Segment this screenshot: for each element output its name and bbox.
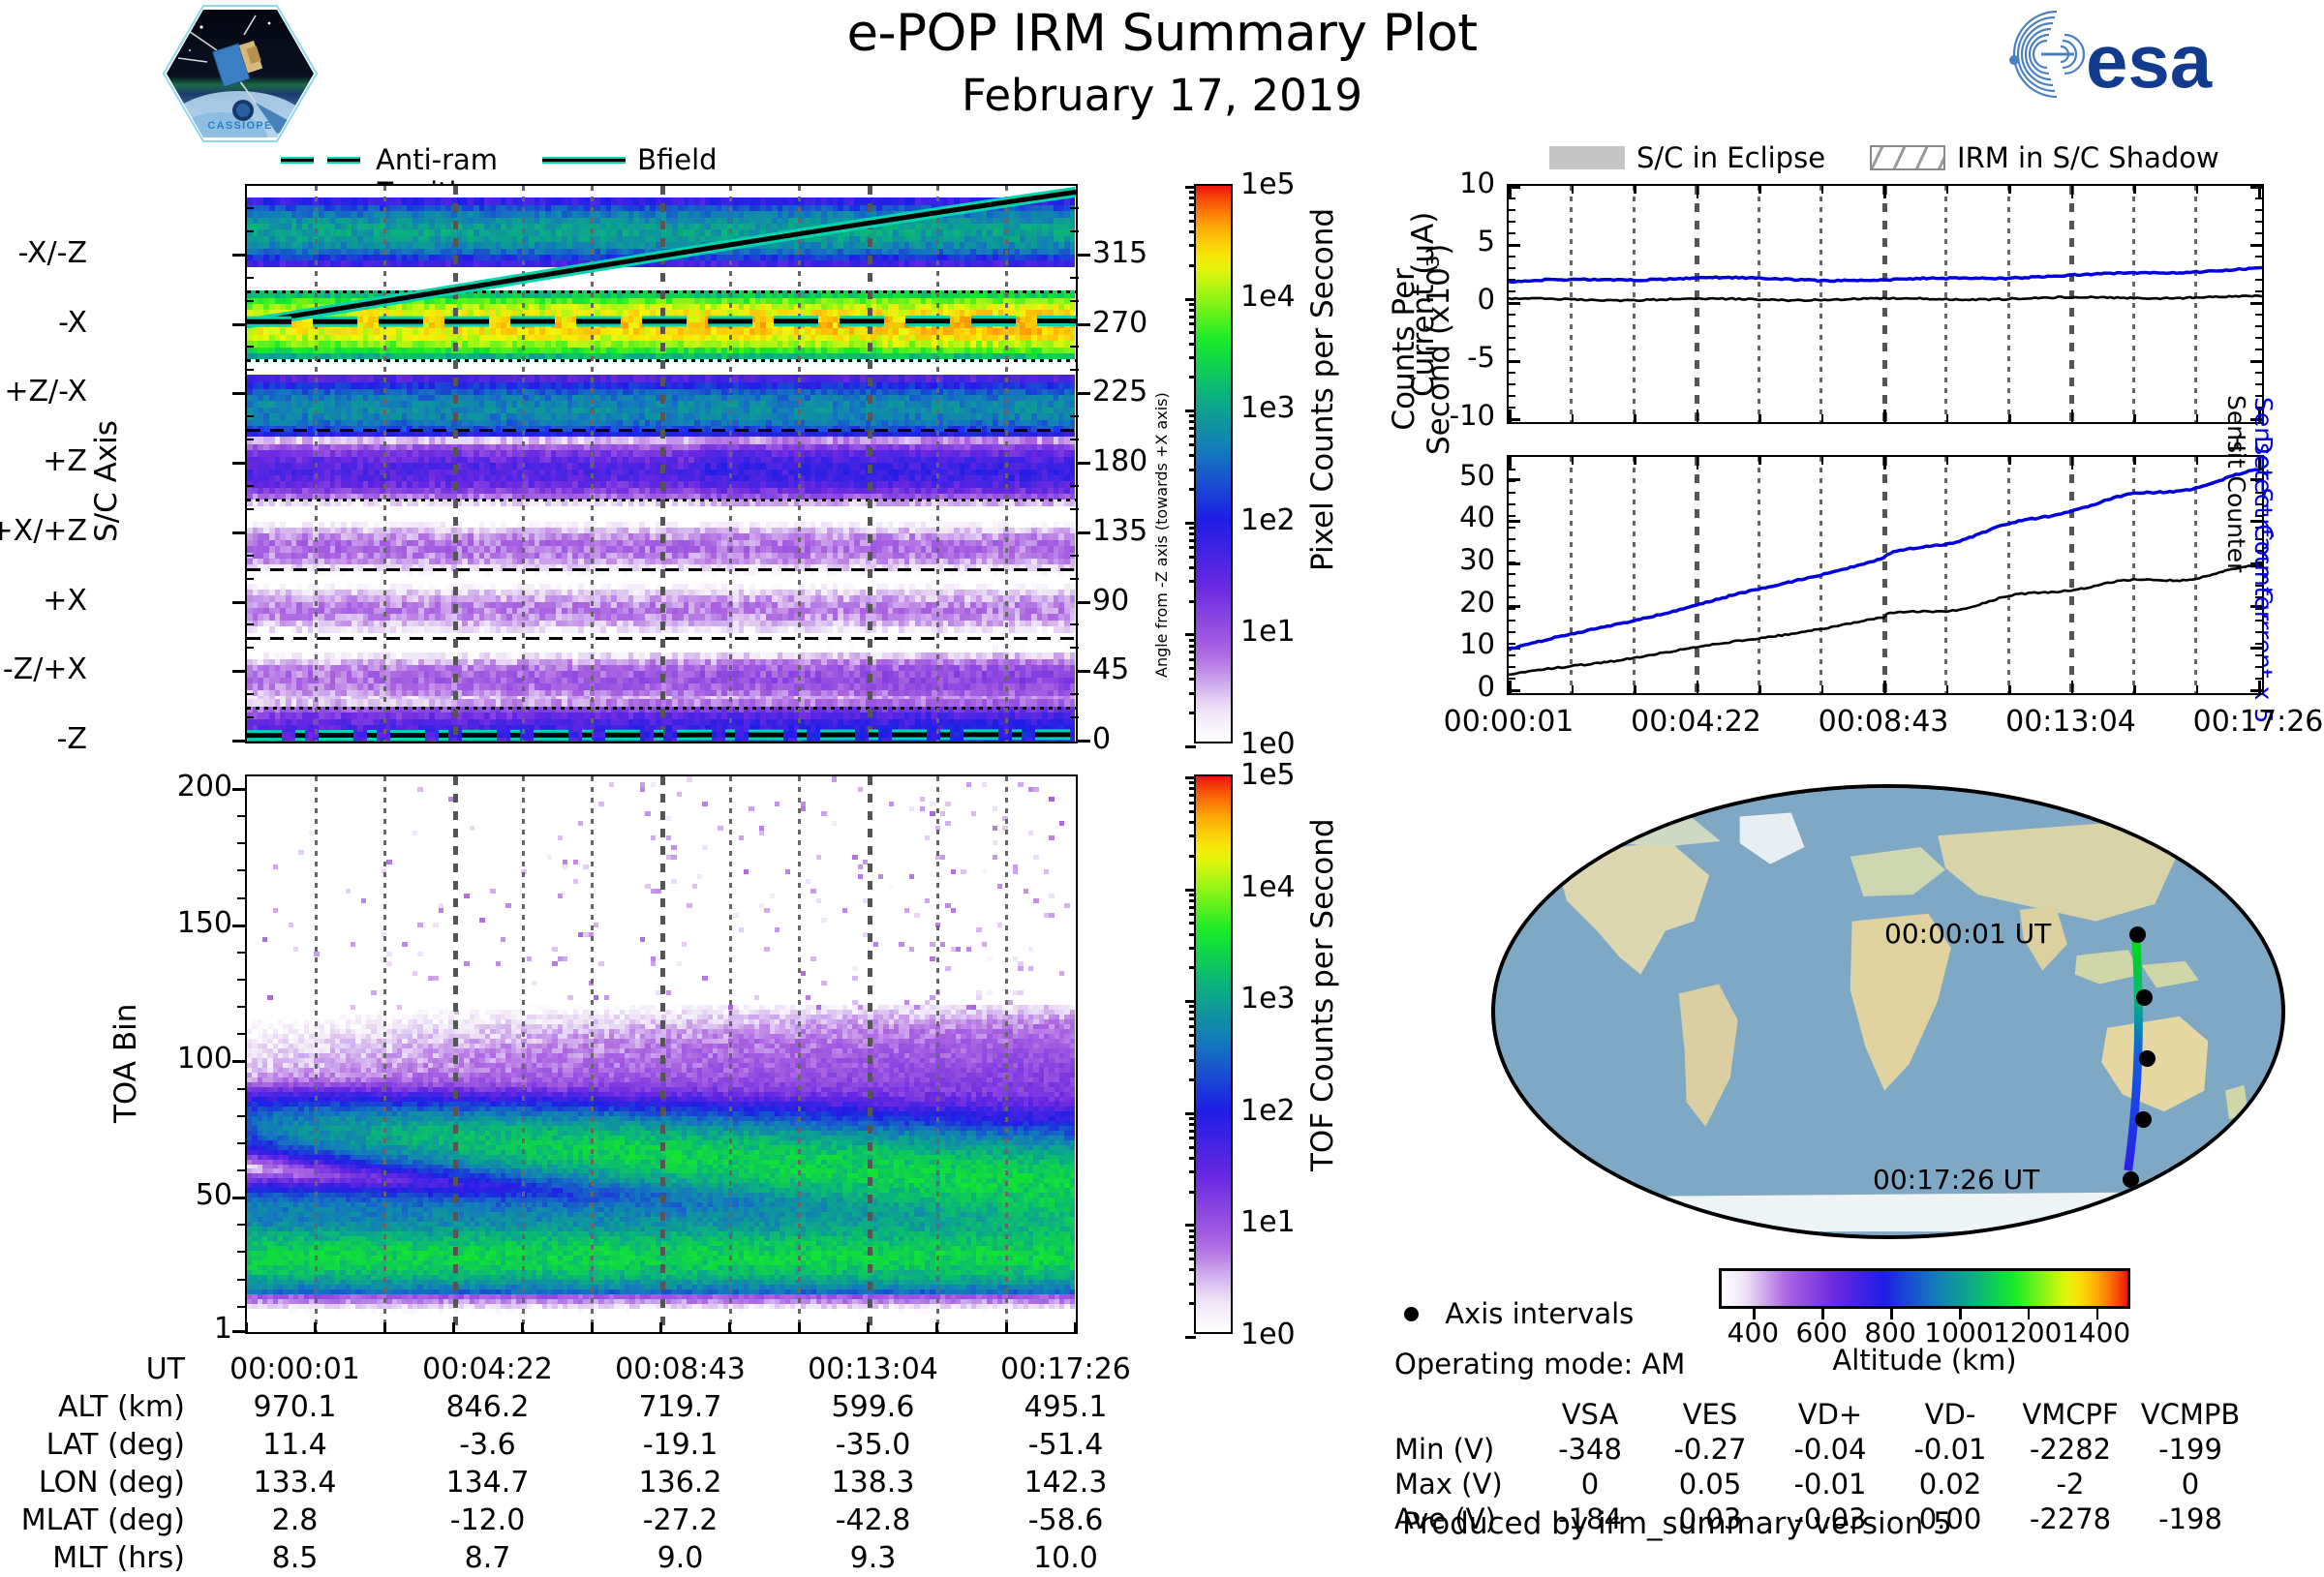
- sc-axis-legend: Anti-ram Bfield Zenith: [281, 143, 949, 176]
- legend-item-sc-eclipse: S/C in Eclipse: [1549, 141, 1870, 174]
- legend-item-bfield: Bfield: [542, 143, 761, 176]
- spectrogram-canvas: [247, 186, 1076, 742]
- legend-label-irm-shadow: IRM in S/C Shadow: [1957, 141, 2219, 174]
- legend-label-sc-eclipse: S/C in Eclipse: [1636, 141, 1825, 174]
- legend-item-anti-ram: Anti-ram: [281, 143, 542, 176]
- page-title: e-POP IRM Summary Plot: [0, 4, 2324, 63]
- cassiope-mission-logo: CASSIOPE: [163, 2, 318, 145]
- grey-swatch-icon: [1549, 146, 1625, 169]
- legend-item-irm-shadow: IRM in S/C Shadow: [1870, 141, 2264, 174]
- legend-label-bfield: Bfield: [637, 143, 717, 176]
- page-subtitle-date: February 17, 2019: [0, 70, 2324, 121]
- eclipse-legend: S/C in Eclipse IRM in S/C Shadow: [1549, 141, 2324, 174]
- esa-logo-text: esa: [2086, 18, 2213, 103]
- cassiope-logo-text: CASSIOPE: [207, 120, 272, 132]
- esa-logo: esa: [1981, 6, 2301, 103]
- hatched-swatch-icon: [1870, 145, 1945, 170]
- legend-label-anti-ram: Anti-ram: [376, 143, 498, 176]
- sc-axis-spectrogram[interactable]: [245, 184, 1078, 743]
